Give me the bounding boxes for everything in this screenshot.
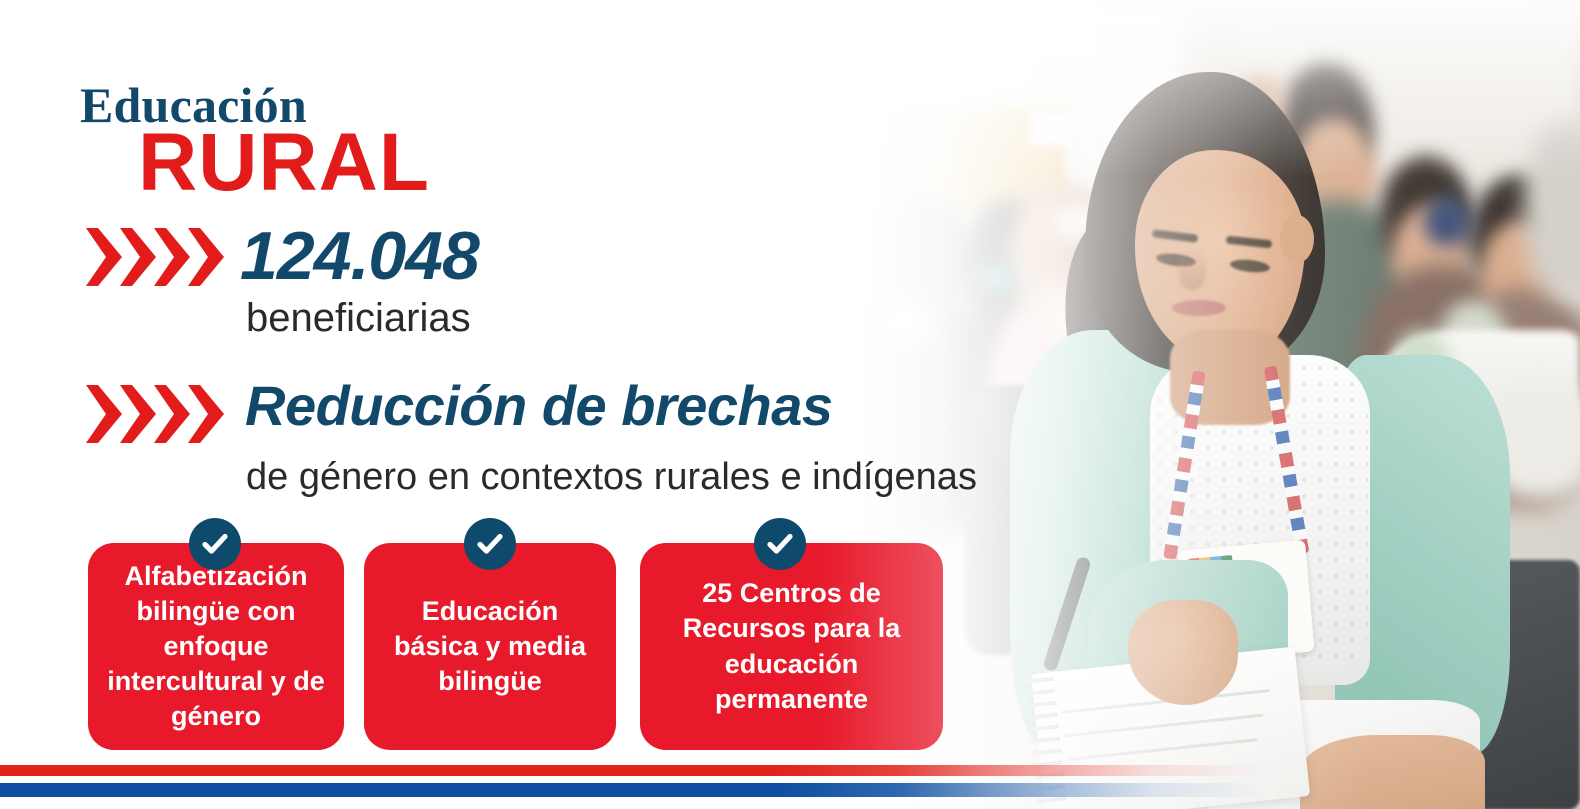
double-chevron-icon [84,383,220,445]
feature-card-resource-centers[interactable]: 25 Centros de Recursos para la educación… [640,543,943,750]
check-circle-icon [754,518,806,570]
check-circle-icon [189,518,241,570]
footer-stripes [0,755,1580,809]
feature-card-bilingual-literacy[interactable]: Alfabetización bilingüe con enfoque inte… [88,543,344,750]
double-chevron-icon [84,226,220,288]
feature-card-text: 25 Centros de Recursos para la educación… [652,576,931,716]
stat-value-beneficiaries: 124.048 [240,222,479,290]
feature-card-basic-secondary-education[interactable]: Educación básica y media bilingüe [364,543,616,750]
blue-stripe [0,783,1580,797]
red-stripe [0,765,1580,776]
infographic-banner: Educación RURAL 124.048 beneficiarias Re… [0,0,1580,809]
feature-card-text: Alfabetización bilingüe con enfoque inte… [100,559,332,734]
stat-value-gap-reduction: Reducción de brechas [245,378,833,434]
page-title: RURAL [138,122,430,204]
check-circle-icon [464,518,516,570]
stat-label-gap-reduction: de género en contextos rurales e indígen… [246,458,977,496]
stat-label-beneficiaries: beneficiarias [246,298,471,338]
feature-card-text: Educación básica y media bilingüe [376,594,604,699]
